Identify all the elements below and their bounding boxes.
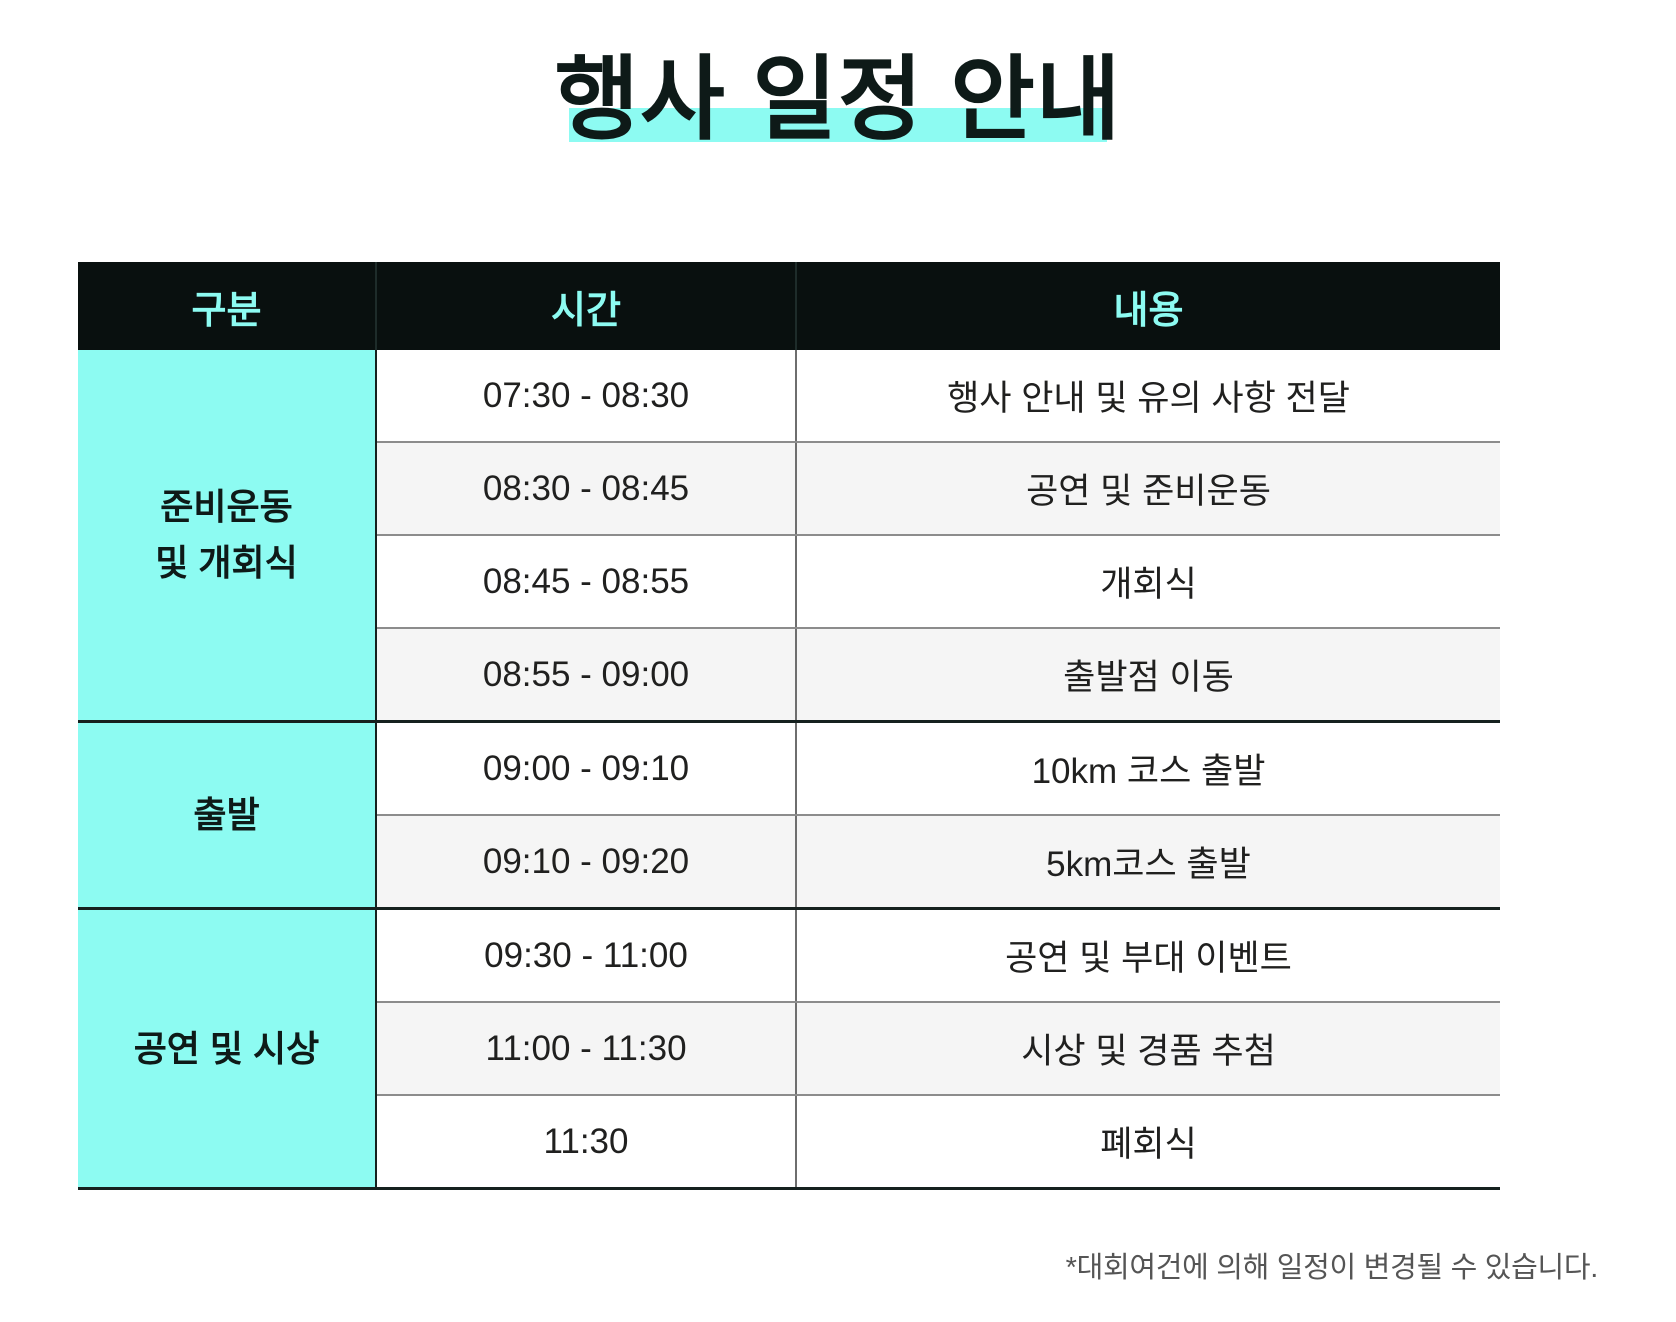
schedule-table: 구분 시간 내용 준비운동 및 개회식 07:30 - 08:30 행사 안내 … xyxy=(78,262,1500,1190)
content-cell: 5km코스 출발 xyxy=(796,815,1500,909)
content-cell: 10km 코스 출발 xyxy=(796,722,1500,816)
table-header: 구분 시간 내용 xyxy=(78,262,1500,350)
content-cell: 행사 안내 및 유의 사항 전달 xyxy=(796,350,1500,442)
column-header-time: 시간 xyxy=(376,262,796,350)
table-body: 준비운동 및 개회식 07:30 - 08:30 행사 안내 및 유의 사항 전… xyxy=(78,350,1500,1189)
table-row: 출발 09:00 - 09:10 10km 코스 출발 xyxy=(78,722,1500,816)
time-cell: 09:00 - 09:10 xyxy=(376,722,796,816)
category-label-line2: 및 개회식 xyxy=(155,542,297,583)
time-cell: 09:30 - 11:00 xyxy=(376,909,796,1003)
content-cell: 폐회식 xyxy=(796,1095,1500,1189)
category-label-line1: 준비운동 xyxy=(160,486,292,527)
time-cell: 09:10 - 09:20 xyxy=(376,815,796,909)
page-title-block: 행사 일정 안내 xyxy=(0,54,1676,204)
footnote: *대회여건에 의해 일정이 변경될 수 있습니다. xyxy=(1066,1244,1598,1286)
category-cell: 준비운동 및 개회식 xyxy=(78,350,376,722)
table-header-row: 구분 시간 내용 xyxy=(78,262,1500,350)
category-cell: 출발 xyxy=(78,722,376,909)
content-cell: 출발점 이동 xyxy=(796,628,1500,722)
table-row: 공연 및 시상 09:30 - 11:00 공연 및 부대 이벤트 xyxy=(78,909,1500,1003)
page-title: 행사 일정 안내 xyxy=(555,49,1122,151)
time-cell: 11:30 xyxy=(376,1095,796,1189)
schedule-poster: 행사 일정 안내 구분 시간 내용 준비운동 및 개회식 07:30 - 08:… xyxy=(0,0,1676,1322)
time-cell: 08:45 - 08:55 xyxy=(376,535,796,628)
column-header-category: 구분 xyxy=(78,262,376,350)
column-header-content: 내용 xyxy=(796,262,1500,350)
content-cell: 공연 및 부대 이벤트 xyxy=(796,909,1500,1003)
category-label-line1: 공연 및 시상 xyxy=(134,1028,320,1069)
time-cell: 07:30 - 08:30 xyxy=(376,350,796,442)
time-cell: 11:00 - 11:30 xyxy=(376,1002,796,1095)
table-row: 준비운동 및 개회식 07:30 - 08:30 행사 안내 및 유의 사항 전… xyxy=(78,350,1500,442)
category-cell: 공연 및 시상 xyxy=(78,909,376,1189)
title-wrap: 행사 일정 안내 xyxy=(555,54,1122,146)
content-cell: 공연 및 준비운동 xyxy=(796,442,1500,535)
content-cell: 개회식 xyxy=(796,535,1500,628)
time-cell: 08:30 - 08:45 xyxy=(376,442,796,535)
category-label-line1: 출발 xyxy=(193,794,259,835)
content-cell: 시상 및 경품 추첨 xyxy=(796,1002,1500,1095)
time-cell: 08:55 - 09:00 xyxy=(376,628,796,722)
